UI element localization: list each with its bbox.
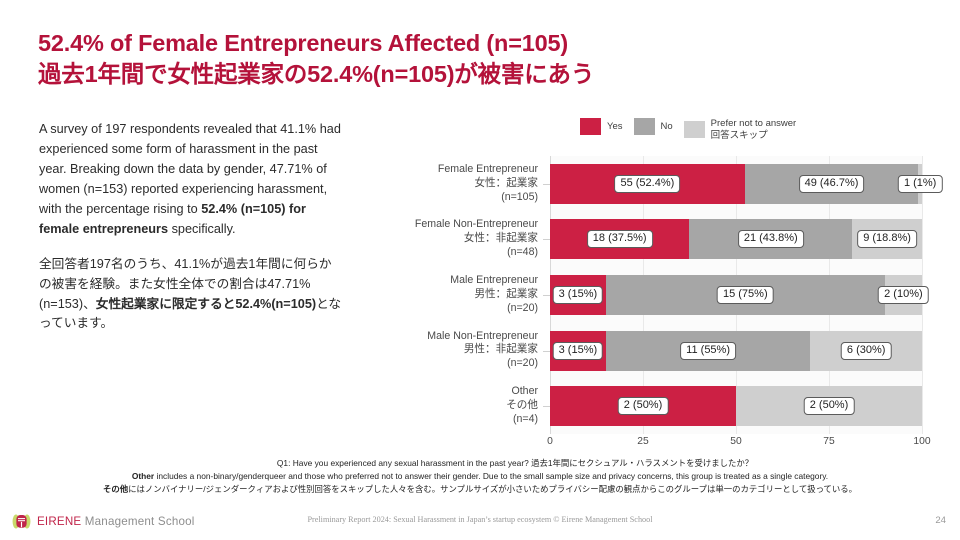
chart-value-axis: 0255075100 (550, 434, 922, 452)
legend-label: Prefer not to answer 回答スキップ (711, 118, 797, 141)
chart-bar-row[interactable]: 3 (15%)11 (55%)6 (30%) (550, 331, 922, 371)
bar-segment-no[interactable]: 11 (55%) (606, 331, 811, 371)
category-axis-label: Female Entrepreneur 女性：起業家 (n=105) (438, 163, 538, 205)
legend-swatch-icon (634, 118, 655, 135)
bar-segment-prefer-not-to-answer[interactable]: 1 (1%) (918, 164, 922, 204)
narrative-text: A survey of 197 respondents revealed tha… (39, 120, 344, 334)
legend-label: No (661, 121, 673, 133)
x-axis-tick-label: 100 (913, 436, 930, 447)
bar-segment-label: 49 (46.7%) (799, 175, 865, 193)
legend-swatch-icon (684, 121, 705, 138)
bar-segment-yes[interactable]: 18 (37.5%) (550, 219, 689, 259)
stacked-bar-chart: YesNoPrefer not to answer 回答スキップ Female … (358, 118, 948, 453)
x-axis-tick-label: 75 (823, 436, 834, 447)
footnote-question: Q1: Have you experienced any sexual hara… (100, 458, 930, 470)
legend-item-yes[interactable]: Yes (580, 118, 623, 135)
bar-segment-yes[interactable]: 55 (52.4%) (550, 164, 745, 204)
category-axis-tick (543, 295, 550, 296)
narrative-spacer (39, 240, 344, 255)
narrative-en-part2: specifically. (168, 222, 235, 236)
narrative-ja-emphasis: 女性起業家に限定すると52.4%(n=105) (96, 297, 316, 311)
category-axis-tick (543, 406, 550, 407)
chart-bar-row[interactable]: 3 (15%)15 (75%)2 (10%) (550, 275, 922, 315)
footnotes: Q1: Have you experienced any sexual hara… (30, 458, 930, 497)
bar-segment-no[interactable]: 21 (43.8%) (689, 219, 852, 259)
bar-segment-label: 1 (1%) (898, 175, 942, 193)
title-line-english: 52.4% of Female Entrepreneurs Affected (… (38, 28, 798, 59)
bar-segment-label: 2 (10%) (878, 286, 929, 304)
footnote-other-ja-text: にはノンバイナリー/ジェンダークィアおよび性別回答をスキップした人々を含む。サン… (128, 484, 857, 494)
bar-segment-prefer-not-to-answer[interactable]: 2 (10%) (885, 275, 922, 315)
category-axis-tick (543, 239, 550, 240)
page-footer: EIRENE Management School Preliminary Rep… (0, 504, 960, 540)
bar-segment-label: 15 (75%) (717, 286, 774, 304)
bar-segment-yes[interactable]: 2 (50%) (550, 386, 736, 426)
footnote-other-english: Other includes a non-binary/genderqueer … (30, 470, 930, 484)
bar-segment-label: 55 (52.4%) (614, 175, 680, 193)
chart-bar-row[interactable]: 2 (50%)2 (50%) (550, 386, 922, 426)
bar-segment-label: 3 (15%) (553, 286, 604, 304)
legend-swatch-icon (580, 118, 601, 135)
category-axis-tick (543, 351, 550, 352)
bar-segment-label: 11 (55%) (680, 342, 736, 360)
narrative-paragraph-japanese: 全回答者197名のうち、41.1%が過去1年間に何らかの被害を経験。また女性全体… (39, 255, 344, 335)
bar-segment-label: 21 (43.8%) (738, 230, 804, 248)
bar-segment-label: 9 (18.8%) (857, 230, 917, 248)
category-axis-tick (543, 184, 550, 185)
legend-item-no[interactable]: No (634, 118, 673, 135)
category-axis-label: Male Non-Entrepreneur 男性：非起業家 (n=20) (427, 330, 538, 372)
chart-legend: YesNoPrefer not to answer 回答スキップ (580, 118, 796, 144)
bar-segment-label: 3 (15%) (553, 342, 604, 360)
narrative-paragraph-english: A survey of 197 respondents revealed tha… (39, 120, 344, 240)
chart-bar-row[interactable]: 55 (52.4%)49 (46.7%)1 (1%) (550, 164, 922, 204)
bar-segment-yes[interactable]: 3 (15%) (550, 275, 606, 315)
category-axis-label: Male Entrepreneur 男性：起業家 (n=20) (450, 274, 538, 316)
footnote-other-ja-term: その他 (103, 484, 128, 494)
chart-plot-area: 55 (52.4%)49 (46.7%)1 (1%)18 (37.5%)21 (… (550, 156, 922, 434)
bar-segment-no[interactable]: 15 (75%) (606, 275, 885, 315)
bar-segment-prefer-not-to-answer[interactable]: 6 (30%) (810, 331, 922, 371)
title-line-japanese: 過去1年間で女性起業家の52.4%(n=105)が被害にあう (38, 59, 798, 90)
copyright-notice: Preliminary Report 2024: Sexual Harassme… (0, 515, 960, 524)
category-axis-label: Female Non-Entrepreneur 女性：非起業家 (n=48) (415, 219, 538, 261)
footnote-other-japanese: その他にはノンバイナリー/ジェンダークィアおよび性別回答をスキップした人々を含む… (30, 483, 930, 497)
bar-segment-label: 2 (50%) (618, 397, 669, 415)
x-axis-tick-label: 50 (730, 436, 741, 447)
bar-segment-yes[interactable]: 3 (15%) (550, 331, 606, 371)
legend-item-prefer-not-to-answer[interactable]: Prefer not to answer 回答スキップ (684, 118, 797, 141)
page-title: 52.4% of Female Entrepreneurs Affected (… (38, 28, 798, 90)
bar-segment-label: 18 (37.5%) (587, 230, 653, 248)
footnote-other-en-term: Other (132, 471, 154, 481)
legend-label: Yes (607, 121, 623, 133)
page-number: 24 (935, 515, 946, 526)
x-axis-tick-label: 25 (637, 436, 648, 447)
bar-segment-prefer-not-to-answer[interactable]: 2 (50%) (736, 386, 922, 426)
chart-bar-row[interactable]: 18 (37.5%)21 (43.8%)9 (18.8%) (550, 219, 922, 259)
x-axis-tick-label: 0 (547, 436, 553, 447)
bar-segment-prefer-not-to-answer[interactable]: 9 (18.8%) (852, 219, 922, 259)
bar-segment-label: 6 (30%) (841, 342, 892, 360)
bar-segment-label: 2 (50%) (804, 397, 855, 415)
category-axis-label: Other その他 (n=4) (506, 385, 538, 427)
chart-category-axis: Female Entrepreneur 女性：起業家 (n=105)Female… (358, 156, 550, 434)
bar-segment-no[interactable]: 49 (46.7%) (745, 164, 919, 204)
footnote-other-en-text: includes a non-binary/genderqueer and th… (154, 471, 828, 481)
